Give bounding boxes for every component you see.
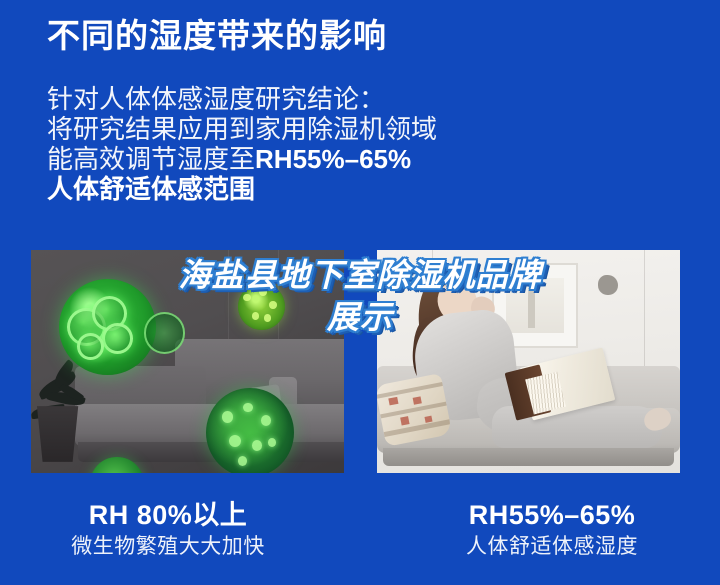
intro-paragraph: 针对人体体感湿度研究结论： 将研究结果应用到家用除湿机领域 能高效调节湿度至RH…: [47, 84, 667, 204]
intro-line-3: 能高效调节湿度至RH55%–65%: [47, 144, 667, 174]
caption-comfort: RH55%–65% 人体舒适体感湿度: [366, 498, 720, 562]
page-title: 不同的湿度带来的影响: [47, 16, 387, 56]
microbe-small-icon: [238, 283, 285, 330]
intro-line-3-range: RH55%–65%: [255, 144, 411, 174]
microbe-spiky-icon: [206, 388, 294, 473]
wall-knob-icon: [598, 275, 618, 295]
microbe-cluster-large-icon: [59, 279, 156, 375]
caption-humid-desc: 微生物繁殖大大加快: [0, 532, 336, 562]
caption-comfort-desc: 人体舒适体感湿度: [384, 532, 720, 562]
photo-panel-humid: [31, 250, 344, 473]
caption-humid-value: RH 80%以上: [0, 498, 336, 532]
photo-panel-comfort: [377, 250, 680, 473]
intro-line-1: 针对人体体感湿度研究结论：: [47, 84, 667, 114]
intro-line-3-prefix: 能高效调节湿度至: [47, 144, 255, 174]
intro-line-4: 人体舒适体感范围: [47, 174, 667, 204]
poster-root: 不同的湿度带来的影响 针对人体体感湿度研究结论： 将研究结果应用到家用除湿机领域…: [0, 0, 720, 585]
caption-humid: RH 80%以上 微生物繁殖大大加快: [0, 498, 366, 562]
caption-comfort-value: RH55%–65%: [384, 498, 720, 532]
intro-line-2: 将研究结果应用到家用除湿机领域: [47, 114, 667, 144]
light-sofa-base: [383, 448, 674, 466]
caption-row: RH 80%以上 微生物繁殖大大加快 RH55%–65% 人体舒适体感湿度: [0, 498, 720, 562]
